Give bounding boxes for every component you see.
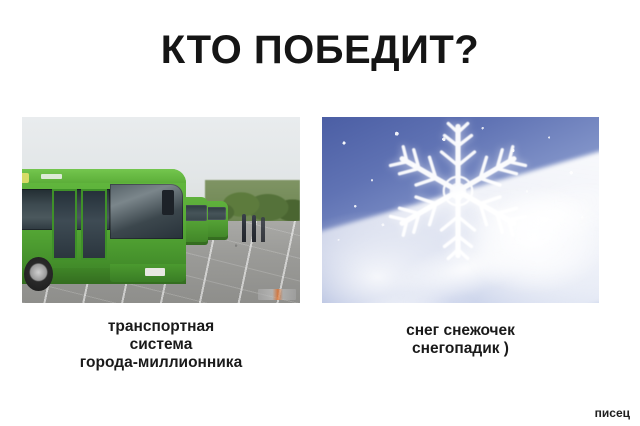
bus-foreground [22, 169, 186, 284]
bus-door [52, 189, 78, 260]
left-caption-line-2: система [22, 336, 300, 354]
snowflake-photo [322, 117, 599, 303]
bus-mirror [162, 190, 174, 215]
page-watermark: писец [595, 406, 630, 420]
left-caption: транспортная система города-миллионника [22, 318, 300, 372]
bus-marker-light [22, 173, 29, 183]
photo-source-watermark-icon [258, 289, 296, 300]
right-caption-line-2: снегопадик ) [322, 340, 599, 358]
page-title: КТО ПОБЕДИТ? [0, 28, 640, 72]
bus-photo [22, 117, 300, 303]
left-caption-line-3: города-миллионника [22, 354, 300, 372]
left-caption-line-1: транспортная [22, 318, 300, 336]
bus-route-sign [41, 174, 62, 180]
person-figure [242, 214, 246, 242]
person-figure [252, 215, 256, 242]
bus-door [81, 189, 107, 260]
bus-license-plate [145, 268, 166, 276]
people-group [239, 214, 267, 242]
snowflake-icon [383, 117, 533, 266]
right-caption: снег снежочек снегопадик ) [322, 322, 599, 358]
person-figure [261, 217, 265, 242]
right-caption-line-1: снег снежочек [322, 322, 599, 340]
